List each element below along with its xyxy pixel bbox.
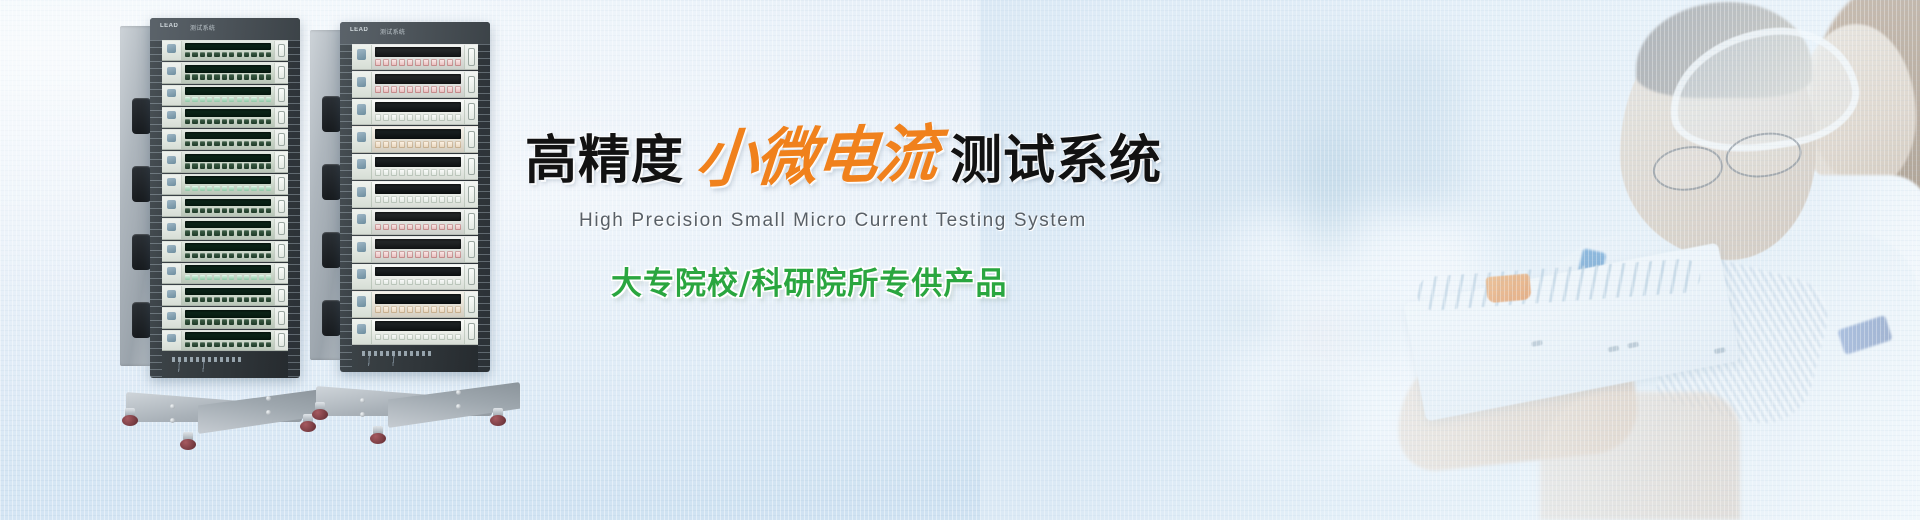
rack-unit-instrument [162, 40, 288, 61]
rack-unit-instrument [352, 291, 478, 317]
rack-unit-instrument [352, 209, 478, 235]
instrument-terminal [229, 52, 234, 57]
instrument-knob [167, 245, 176, 253]
instrument-terminal [200, 275, 205, 280]
instrument-terminal [399, 59, 405, 66]
rack-mount-rail [478, 44, 490, 372]
rack-unit-instrument [162, 107, 288, 128]
instrument-terminal [266, 97, 271, 102]
instrument-power-section [162, 175, 182, 194]
instrument-terminal [407, 306, 413, 313]
instrument-front-panel [182, 63, 274, 82]
instrument-terminal [244, 141, 249, 146]
instrument-terminal [455, 224, 461, 231]
instrument-handle [278, 311, 285, 324]
instrument-terminal [415, 169, 421, 176]
instrument-terminal [391, 279, 397, 286]
rack-unit-instrument [162, 218, 288, 239]
instrument-terminal [391, 196, 397, 203]
instrument-terminal [214, 163, 219, 168]
instrument-terminal [200, 163, 205, 168]
caster-wheel [122, 415, 138, 426]
instrument-terminal [415, 114, 421, 121]
instrument-terminal [237, 208, 242, 213]
instrument-terminal-row [185, 185, 271, 192]
instrument-terminal [266, 208, 271, 213]
instrument-terminal [214, 74, 219, 79]
instrument-terminal [214, 52, 219, 57]
instrument-terminal [399, 279, 405, 286]
instrument-terminal [229, 297, 234, 302]
instrument-terminal [375, 169, 381, 176]
instrument-terminal [423, 279, 429, 286]
rack-right-base [304, 382, 514, 444]
instrument-knob [167, 67, 176, 75]
instrument-handle-section [274, 331, 288, 350]
instrument-terminal [391, 224, 397, 231]
instrument-led-display [375, 239, 461, 249]
instrument-front-panel [372, 237, 464, 261]
instrument-terminal [447, 251, 453, 258]
instrument-handle-section [274, 63, 288, 82]
instrument-terminal [200, 141, 205, 146]
instrument-terminal [415, 141, 421, 148]
instrument-handle-section [274, 308, 288, 327]
base-bolt [170, 404, 175, 409]
instrument-terminal [251, 297, 256, 302]
instrument-terminal [214, 186, 219, 191]
instrument-terminal [375, 279, 381, 286]
instrument-terminal [383, 196, 389, 203]
instrument-terminal [192, 97, 197, 102]
headline-prefix: 高精度 [525, 135, 684, 187]
instrument-terminal [237, 275, 242, 280]
instrument-terminal [222, 297, 227, 302]
instrument-front-panel [372, 100, 464, 124]
instrument-terminal [455, 114, 461, 121]
base-bolt [360, 412, 365, 417]
instrument-terminal [214, 208, 219, 213]
instrument-power-section [352, 182, 372, 206]
instrument-terminal [439, 279, 445, 286]
rack-unit-instrument [162, 85, 288, 106]
rack-caster-wheel [312, 402, 328, 420]
rack-unit-instrument [352, 319, 478, 345]
instrument-terminal [447, 86, 453, 93]
instrument-led-display [375, 129, 461, 139]
instrument-terminal [200, 208, 205, 213]
instrument-terminal [415, 224, 421, 231]
instrument-terminal [259, 319, 264, 324]
base-bolt [266, 410, 271, 415]
instrument-terminal [399, 86, 405, 93]
instrument-power-section [352, 127, 372, 151]
instrument-terminal-row [185, 118, 271, 125]
instrument-terminal [192, 275, 197, 280]
instrument-terminal [185, 208, 190, 213]
base-bolt [360, 398, 365, 403]
instrument-terminal [455, 141, 461, 148]
instrument-terminal-row [185, 252, 271, 259]
instrument-terminal [207, 208, 212, 213]
instrument-terminal [259, 119, 264, 124]
instrument-terminal [192, 342, 197, 347]
instrument-terminal [229, 141, 234, 146]
instrument-terminal [259, 186, 264, 191]
instrument-terminal [266, 275, 271, 280]
instrument-terminal [399, 114, 405, 121]
instrument-terminal [399, 251, 405, 258]
instrument-terminal-row [375, 140, 461, 149]
instrument-terminal [207, 52, 212, 57]
instrument-terminal [423, 224, 429, 231]
instrument-handle-section [274, 41, 288, 60]
instrument-terminal [431, 59, 437, 66]
instrument-terminal [237, 163, 242, 168]
instrument-terminal [399, 141, 405, 148]
instrument-terminal [251, 208, 256, 213]
instrument-terminal [259, 97, 264, 102]
instrument-power-section [162, 197, 182, 216]
instrument-terminal [214, 297, 219, 302]
instrument-terminal [207, 253, 212, 258]
rack-vent-slot [322, 96, 341, 132]
instrument-terminal [229, 186, 234, 191]
instrument-terminal [185, 52, 190, 57]
instrument-terminal [407, 279, 413, 286]
banner-tagline-chinese: 大专院校/科研院所专供产品 [611, 258, 1245, 303]
instrument-handle-section [464, 100, 478, 124]
instrument-terminal [415, 196, 421, 203]
instrument-terminal [207, 74, 212, 79]
instrument-front-panel [182, 264, 274, 283]
instrument-terminal [375, 196, 381, 203]
rack-right-header: LEAD 测试系统 [340, 22, 490, 44]
instrument-terminal [251, 141, 256, 146]
instrument-handle [468, 103, 475, 120]
instrument-terminal [244, 230, 249, 235]
instrument-terminal-row [185, 274, 271, 281]
instrument-terminal [222, 163, 227, 168]
instrument-terminal [383, 86, 389, 93]
instrument-front-panel [182, 308, 274, 327]
rack-unit-instrument [352, 71, 478, 97]
instrument-terminal [207, 119, 212, 124]
instrument-terminal [237, 253, 242, 258]
rack-vent-slot [132, 98, 151, 134]
instrument-terminal [375, 114, 381, 121]
instrument-terminal-row [375, 222, 461, 231]
instrument-terminal [222, 230, 227, 235]
instrument-terminal-row [375, 250, 461, 259]
instrument-led-display [375, 47, 461, 57]
instrument-power-section [162, 331, 182, 350]
rack-unit-instrument [352, 264, 478, 290]
instrument-terminal [407, 224, 413, 231]
instrument-terminal [251, 52, 256, 57]
instrument-handle [278, 155, 285, 168]
instrument-terminal [447, 279, 453, 286]
instrument-handle [468, 241, 475, 258]
instrument-terminal-row [185, 296, 271, 303]
instrument-terminal [423, 86, 429, 93]
instrument-terminal [431, 251, 437, 258]
instrument-power-section [162, 286, 182, 305]
instrument-knob [357, 296, 366, 306]
rack-caster-wheel [490, 408, 506, 426]
instrument-front-panel [182, 86, 274, 105]
rack-mount-rail [150, 40, 162, 378]
instrument-terminal [439, 86, 445, 93]
rack-unit-instrument [352, 99, 478, 125]
instrument-knob [357, 187, 366, 197]
instrument-terminal [222, 208, 227, 213]
instrument-terminal [439, 141, 445, 148]
instrument-terminal [383, 224, 389, 231]
instrument-led-display [185, 87, 271, 95]
instrument-terminal [431, 306, 437, 313]
instrument-terminal [185, 319, 190, 324]
instrument-handle-section [464, 320, 478, 344]
instrument-terminal [259, 141, 264, 146]
instrument-terminal [192, 253, 197, 258]
instrument-terminal [383, 334, 389, 341]
instrument-led-display [375, 294, 461, 304]
instrument-handle-section [464, 182, 478, 206]
instrument-terminal-row [375, 305, 461, 314]
instrument-led-display [185, 310, 271, 318]
rack-brand-logo: LEAD [160, 23, 178, 29]
instrument-terminal [431, 169, 437, 176]
instrument-terminal [237, 319, 242, 324]
instrument-terminal [192, 119, 197, 124]
instrument-terminal [185, 342, 190, 347]
instrument-handle [468, 213, 475, 230]
instrument-terminal [447, 141, 453, 148]
instrument-terminal [244, 163, 249, 168]
instrument-knob [357, 159, 366, 169]
rack-vent-slot [132, 302, 151, 338]
instrument-terminal [237, 97, 242, 102]
instrument-handle [278, 177, 285, 190]
instrument-terminal [423, 114, 429, 121]
rack-right-units [352, 44, 478, 346]
instrument-terminal [407, 86, 413, 93]
instrument-terminal [222, 275, 227, 280]
instrument-terminal [237, 230, 242, 235]
instrument-knob [167, 312, 176, 320]
instrument-knob [167, 290, 176, 298]
instrument-terminal [415, 59, 421, 66]
instrument-knob [357, 132, 366, 142]
instrument-handle-section [274, 108, 288, 127]
instrument-terminal [244, 297, 249, 302]
instrument-terminal [391, 334, 397, 341]
rack-unit-instrument [162, 151, 288, 172]
instrument-terminal [439, 224, 445, 231]
rack-vent-slot [322, 232, 341, 268]
rack-right-patch-panel [352, 346, 478, 372]
instrument-terminal [214, 230, 219, 235]
instrument-terminal-row [375, 332, 461, 341]
instrument-terminal [415, 86, 421, 93]
instrument-terminal [200, 297, 205, 302]
instrument-terminal-row [185, 51, 271, 58]
instrument-led-display [375, 102, 461, 112]
instrument-terminal [192, 230, 197, 235]
base-bolt [170, 418, 175, 423]
instrument-handle-section [274, 197, 288, 216]
instrument-terminal [375, 59, 381, 66]
instrument-handle-section [274, 219, 288, 238]
instrument-terminal [214, 141, 219, 146]
instrument-front-panel [182, 108, 274, 127]
instrument-handle [278, 267, 285, 280]
instrument-terminal [251, 253, 256, 258]
instrument-terminal [431, 141, 437, 148]
instrument-terminal [251, 275, 256, 280]
instrument-terminal [391, 86, 397, 93]
instrument-terminal [383, 114, 389, 121]
instrument-front-panel [372, 320, 464, 344]
rack-right-frame: LEAD 测试系统 [340, 22, 490, 372]
headline-suffix: 测试系统 [950, 135, 1162, 187]
instrument-terminal [185, 253, 190, 258]
instrument-terminal [407, 251, 413, 258]
instrument-terminal [439, 334, 445, 341]
instrument-terminal [259, 253, 264, 258]
instrument-power-section [352, 210, 372, 234]
instrument-led-display [185, 132, 271, 140]
instrument-terminal [259, 208, 264, 213]
instrument-terminal [266, 186, 271, 191]
instrument-terminal [251, 230, 256, 235]
instrument-handle-section [274, 86, 288, 105]
instrument-terminal-row [185, 318, 271, 325]
instrument-knob [357, 214, 366, 224]
instrument-terminal [229, 230, 234, 235]
instrument-power-section [162, 86, 182, 105]
instrument-terminal [244, 186, 249, 191]
instrument-terminal [259, 342, 264, 347]
instrument-terminal [415, 279, 421, 286]
instrument-handle-section [274, 175, 288, 194]
instrument-terminal [244, 319, 249, 324]
instrument-power-section [352, 72, 372, 96]
base-bolt [266, 396, 271, 401]
instrument-handle-section [464, 155, 478, 179]
instrument-knob [357, 324, 366, 334]
caster-wheel [312, 409, 328, 420]
instrument-terminal [375, 306, 381, 313]
instrument-terminal [447, 306, 453, 313]
rack-left-header: LEAD 测试系统 [150, 18, 300, 40]
instrument-terminal [237, 119, 242, 124]
instrument-handle [468, 158, 475, 175]
instrument-terminal [192, 297, 197, 302]
instrument-terminal [447, 334, 453, 341]
rack-left-patch-panel [162, 352, 288, 378]
instrument-power-section [162, 63, 182, 82]
instrument-terminal [192, 163, 197, 168]
rack-caster-wheel [370, 426, 386, 444]
instrument-handle-section [464, 237, 478, 261]
instrument-terminal [439, 114, 445, 121]
instrument-terminal [266, 119, 271, 124]
caster-wheel [490, 415, 506, 426]
instrument-handle-section [274, 152, 288, 171]
instrument-handle [468, 186, 475, 203]
rack-brand-logo: LEAD [350, 27, 368, 33]
instrument-terminal [207, 141, 212, 146]
instrument-terminal [383, 169, 389, 176]
instrument-terminal [244, 119, 249, 124]
instrument-terminal [207, 97, 212, 102]
instrument-terminal [207, 186, 212, 191]
instrument-terminal [399, 196, 405, 203]
instrument-terminal [229, 342, 234, 347]
instrument-knob [167, 223, 176, 231]
instrument-terminal [423, 141, 429, 148]
instrument-front-panel [372, 210, 464, 234]
instrument-terminal [229, 119, 234, 124]
instrument-terminal [259, 163, 264, 168]
instrument-front-panel [372, 72, 464, 96]
instrument-terminal [383, 141, 389, 148]
caster-wheel [180, 439, 196, 450]
instrument-led-display [375, 212, 461, 222]
instrument-led-display [185, 243, 271, 251]
instrument-terminal [251, 97, 256, 102]
instrument-handle [278, 333, 285, 346]
instrument-front-panel [182, 41, 274, 60]
instrument-power-section [352, 45, 372, 69]
instrument-power-section [162, 152, 182, 171]
instrument-terminal-row [185, 341, 271, 348]
instrument-power-section [162, 219, 182, 238]
instrument-terminal [415, 334, 421, 341]
rack-unit-instrument [352, 154, 478, 180]
rack-vent-slot [322, 164, 341, 200]
instrument-terminal [439, 306, 445, 313]
instrument-terminal [222, 119, 227, 124]
instrument-knob [167, 200, 176, 208]
instrument-front-panel [182, 219, 274, 238]
instrument-terminal [439, 251, 445, 258]
instrument-terminal [214, 253, 219, 258]
instrument-terminal [407, 169, 413, 176]
instrument-handle-section [274, 264, 288, 283]
instrument-terminal [391, 141, 397, 148]
instrument-power-section [162, 130, 182, 149]
instrument-power-section [162, 41, 182, 60]
instrument-terminal [192, 52, 197, 57]
instrument-terminal [383, 251, 389, 258]
instrument-terminal [391, 114, 397, 121]
rack-unit-instrument [162, 263, 288, 284]
instrument-terminal [251, 319, 256, 324]
instrument-terminal [222, 74, 227, 79]
instrument-terminal [399, 169, 405, 176]
instrument-terminal [207, 297, 212, 302]
instrument-front-panel [182, 242, 274, 261]
instrument-terminal [447, 59, 453, 66]
instrument-terminal [185, 141, 190, 146]
rack-left-frame: LEAD 测试系统 [150, 18, 300, 378]
instrument-terminal [431, 334, 437, 341]
instrument-terminal [259, 297, 264, 302]
instrument-terminal [222, 141, 227, 146]
